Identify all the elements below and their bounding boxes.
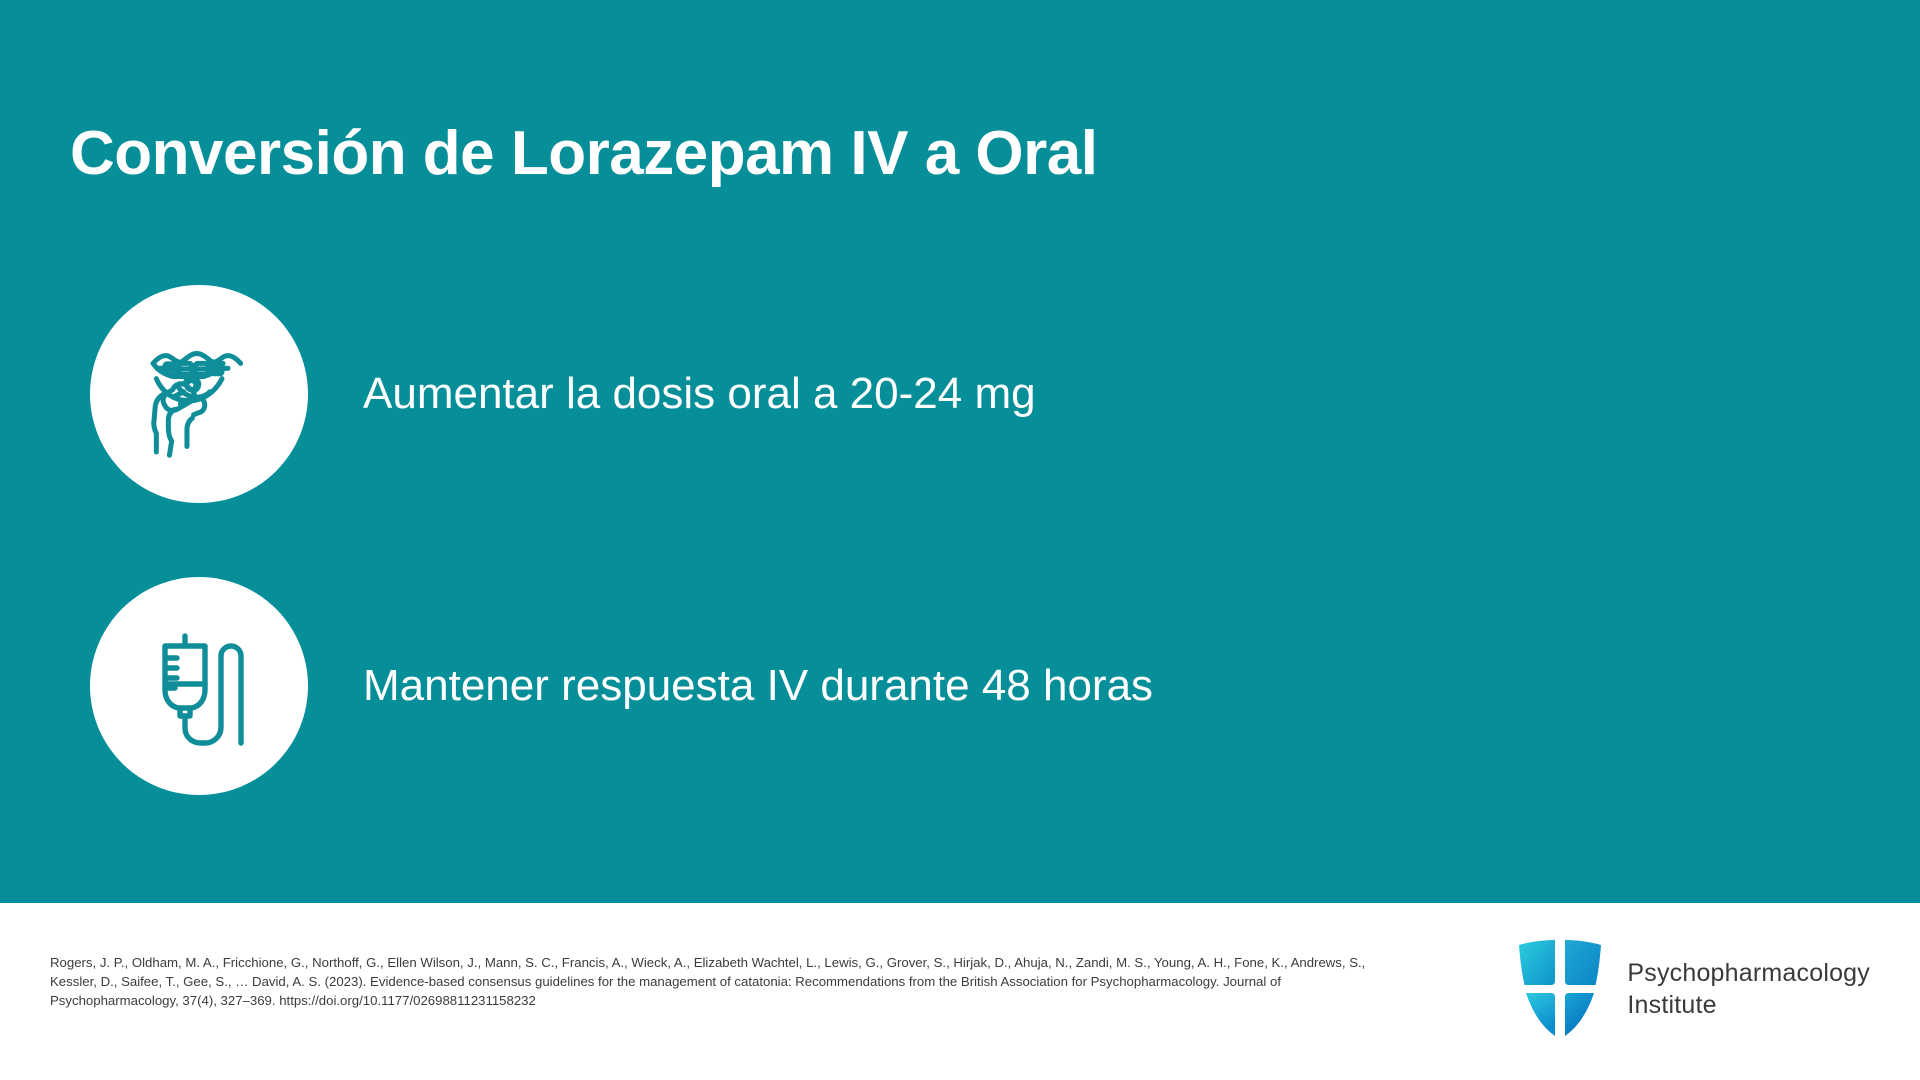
list-item: Mantener respuesta IV durante 48 horas: [0, 577, 1920, 797]
list-item-label: Mantener respuesta IV durante 48 horas: [363, 577, 1153, 795]
list-item-label: Aumentar la dosis oral a 20-24 mg: [363, 285, 1036, 503]
brand-name-line-1: Psychopharmacology: [1627, 957, 1870, 989]
page-title: Conversión de Lorazepam IV a Oral: [70, 120, 1097, 188]
brand-name-line-2: Institute: [1627, 989, 1870, 1021]
oral-medication-icon: [129, 324, 269, 464]
main-content-panel: Conversión de Lorazepam IV a Oral: [0, 0, 1920, 903]
shield-cross-logo: [1515, 939, 1605, 1039]
list-item: Aumentar la dosis oral a 20-24 mg: [0, 285, 1920, 505]
footer-bar: Rogers, J. P., Oldham, M. A., Fricchione…: [0, 903, 1920, 1080]
citation-reference: Rogers, J. P., Oldham, M. A., Fricchione…: [50, 953, 1410, 1011]
brand-lockup: Psychopharmacology Institute: [1515, 939, 1870, 1039]
brand-name: Psychopharmacology Institute: [1627, 957, 1870, 1021]
slide-root: Conversión de Lorazepam IV a Oral: [0, 0, 1920, 1080]
icon-badge-iv-drip: [90, 577, 308, 795]
icon-badge-oral-medication: [90, 285, 308, 503]
iv-drip-icon: [135, 622, 263, 750]
